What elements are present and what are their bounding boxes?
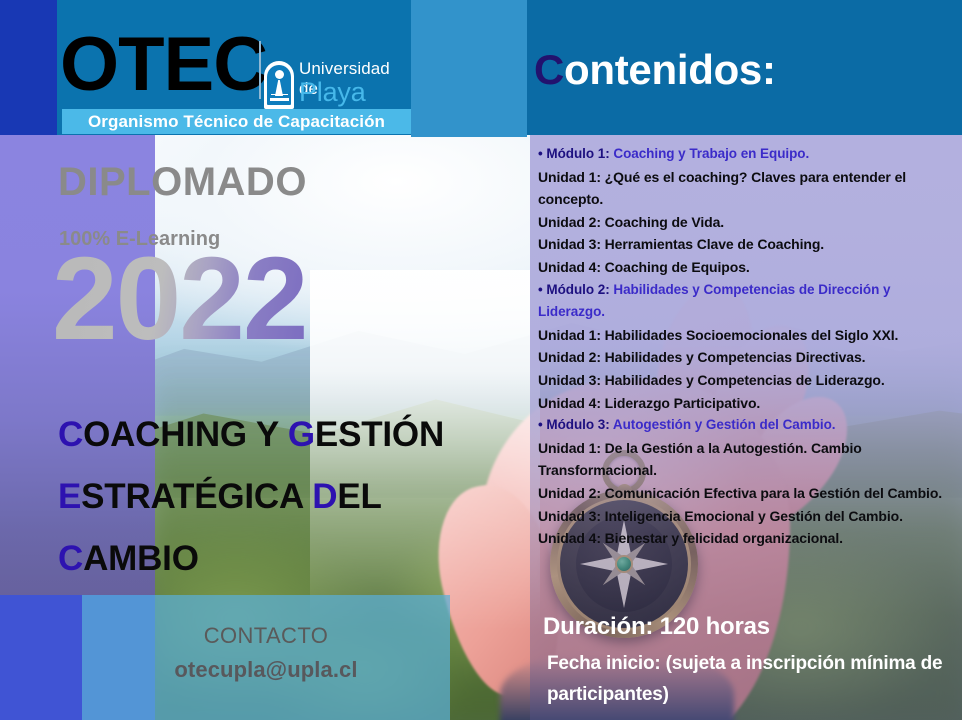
- title-text: AMBIO: [83, 539, 199, 578]
- module-label: • Módulo 2:: [538, 282, 610, 297]
- program-title-line: COACHING Y GESTIÓN: [58, 404, 528, 466]
- poster-canvas: OTEC Universidad de Playa Ancha Organism…: [0, 0, 962, 720]
- upla-shield-inner: [267, 65, 291, 105]
- upla-figure-base: [270, 98, 289, 101]
- upla-logo: Universidad de Playa Ancha: [264, 59, 412, 111]
- logo-divider: [259, 41, 261, 99]
- contact-box: CONTACTO otecupla@upla.cl: [82, 595, 450, 720]
- program-title-line: CAMBIO: [58, 528, 528, 590]
- title-text: EL: [337, 477, 381, 516]
- unit-line: Unidad 3: Inteligencia Emocional y Gesti…: [538, 505, 952, 528]
- title-text: OACHING Y: [83, 415, 288, 454]
- contact-label: CONTACTO: [82, 623, 450, 649]
- kicker-diplomado: DIPLOMADO: [58, 158, 307, 206]
- otec-subtitle-text: Organismo Técnico de Capacitación: [62, 109, 411, 134]
- upla-figure-body: [275, 80, 283, 96]
- title-text: ESTIÓN: [315, 415, 444, 454]
- unit-line: Unidad 1: De la Gestión a la Autogestión…: [538, 437, 952, 482]
- module-line: • Módulo 1: Coaching y Trabajo en Equipo…: [538, 143, 952, 166]
- title-cap: C: [58, 415, 83, 454]
- start-date-label: Fecha inicio: (sujeta a inscripción míni…: [547, 648, 947, 710]
- contents-list: • Módulo 1: Coaching y Trabajo en Equipo…: [538, 143, 952, 550]
- header-middle-block: [411, 0, 527, 137]
- unit-line: Unidad 2: Coaching de Vida.: [538, 211, 952, 234]
- contents-heading-cap: C: [534, 46, 564, 93]
- contents-panel: • Módulo 1: Coaching y Trabajo en Equipo…: [530, 135, 962, 720]
- unit-line: Unidad 4: Liderazgo Participativo.: [538, 392, 952, 415]
- title-cap: G: [288, 415, 315, 454]
- title-cap: D: [312, 477, 337, 516]
- module-title: Autogestión y Gestión del Cambio.: [610, 417, 836, 432]
- module-line: • Módulo 2: Habilidades y Competencias d…: [538, 279, 952, 324]
- upla-figure-head: [275, 70, 284, 79]
- title-text: STRATÉGICA: [81, 477, 312, 516]
- module-line: • Módulo 3: Autogestión y Gestión del Ca…: [538, 414, 952, 437]
- unit-line: Unidad 3: Herramientas Clave de Coaching…: [538, 233, 952, 256]
- unit-line: Unidad 2: Comunicación Efectiva para la …: [538, 482, 952, 505]
- unit-line: Unidad 1: ¿Qué es el coaching? Claves pa…: [538, 166, 952, 211]
- otec-subtitle-band: Organismo Técnico de Capacitación: [62, 109, 411, 134]
- module-label: • Módulo 3:: [538, 417, 610, 432]
- duration-label: Duración: 120 horas: [543, 613, 770, 641]
- module-label: • Módulo 1:: [538, 146, 610, 161]
- upla-shield-icon: [264, 61, 294, 109]
- contents-heading: Contenidos:: [534, 44, 776, 96]
- year-label: 2022: [52, 240, 307, 358]
- unit-line: Unidad 3: Habilidades y Competencias de …: [538, 369, 952, 392]
- module-title: Coaching y Trabajo en Equipo.: [610, 146, 810, 161]
- header-left-strip: [0, 0, 57, 135]
- title-cap: C: [58, 539, 83, 578]
- unit-line: Unidad 4: Bienestar y felicidad organiza…: [538, 527, 952, 550]
- unit-line: Unidad 4: Coaching de Equipos.: [538, 256, 952, 279]
- title-cap: E: [58, 477, 81, 516]
- unit-line: Unidad 2: Habilidades y Competencias Dir…: [538, 346, 952, 369]
- unit-line: Unidad 1: Habilidades Socioemocionales d…: [538, 324, 952, 347]
- contents-heading-rest: ontenidos:: [564, 46, 776, 93]
- contact-email[interactable]: otecupla@upla.cl: [82, 657, 450, 683]
- program-title-line: ESTRATÉGICA DEL: [58, 466, 528, 528]
- program-title: COACHING Y GESTIÓN ESTRATÉGICA DEL CAMBI…: [58, 404, 528, 590]
